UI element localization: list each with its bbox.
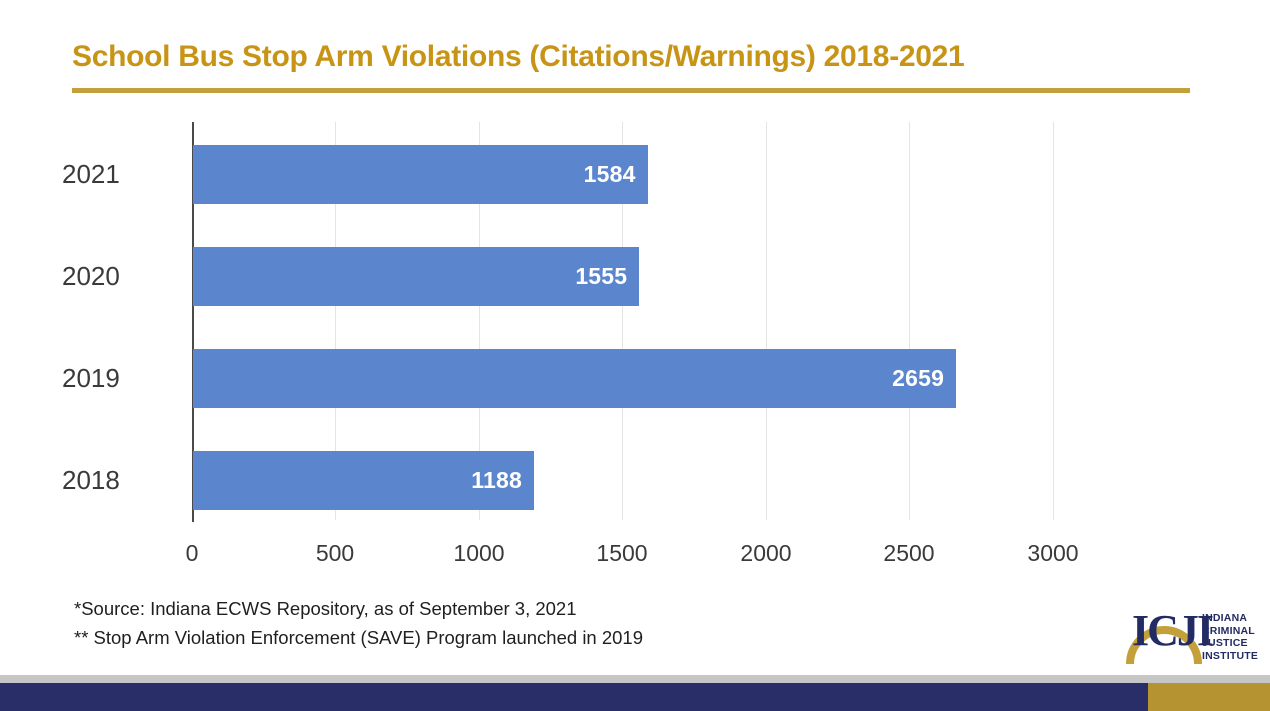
category-label-2018-wrap: 2018 <box>62 450 182 510</box>
bar-value-label-2018: 1188 <box>471 467 522 494</box>
footer-gold-bar <box>1148 683 1270 711</box>
bar-2021[interactable]: 1584 <box>193 145 648 204</box>
gridline-3000 <box>1053 122 1054 520</box>
category-label-2018: 2018 <box>62 465 120 496</box>
xtick-label-500: 500 <box>290 540 380 567</box>
bar-value-label-2019: 2659 <box>892 365 944 392</box>
logo-org-line2: CRIMINAL <box>1202 625 1258 638</box>
category-label-2019: 2019 <box>62 363 120 394</box>
footnote-save-program: ** Stop Arm Violation Enforcement (SAVE)… <box>74 623 643 652</box>
category-label-2020-wrap: 2020 <box>62 246 182 306</box>
logo-org-name: INDIANA CRIMINAL JUSTICE INSTITUTE <box>1202 612 1258 662</box>
footnotes-block: *Source: Indiana ECWS Repository, as of … <box>74 594 643 652</box>
xtick-label-0: 0 <box>147 540 237 567</box>
bar-value-label-2021: 1584 <box>584 161 636 188</box>
gridline-2000 <box>766 122 767 520</box>
xtick-label-1500: 1500 <box>577 540 667 567</box>
category-label-2021-wrap: 2021 <box>62 144 182 204</box>
bar-2019[interactable]: 2659 <box>193 349 956 408</box>
bar-value-label-2020: 1555 <box>575 263 627 290</box>
xtick-label-2000: 2000 <box>721 540 811 567</box>
footnote-source: *Source: Indiana ECWS Repository, as of … <box>74 594 643 623</box>
icji-logo: ICJI INDIANA CRIMINAL JUSTICE INSTITUTE <box>1124 592 1258 666</box>
xtick-label-2500: 2500 <box>864 540 954 567</box>
category-label-2019-wrap: 2019 <box>62 348 182 408</box>
slide-canvas: School Bus Stop Arm Violations (Citation… <box>0 0 1270 711</box>
footer-navy-bar <box>0 683 1148 711</box>
logo-org-line4: INSTITUTE <box>1202 650 1258 663</box>
category-label-2021: 2021 <box>62 159 120 190</box>
footer-grey-strip <box>0 675 1270 683</box>
bar-2018[interactable]: 1188 <box>193 451 534 510</box>
gridline-2500 <box>909 122 910 520</box>
logo-org-line3: JUSTICE <box>1202 637 1258 650</box>
xtick-label-3000: 3000 <box>1008 540 1098 567</box>
category-label-2020: 2020 <box>62 261 120 292</box>
logo-wordmark: ICJI <box>1132 602 1198 662</box>
xtick-label-1000: 1000 <box>434 540 524 567</box>
bar-2020[interactable]: 1555 <box>193 247 639 306</box>
logo-org-line1: INDIANA <box>1202 612 1258 625</box>
